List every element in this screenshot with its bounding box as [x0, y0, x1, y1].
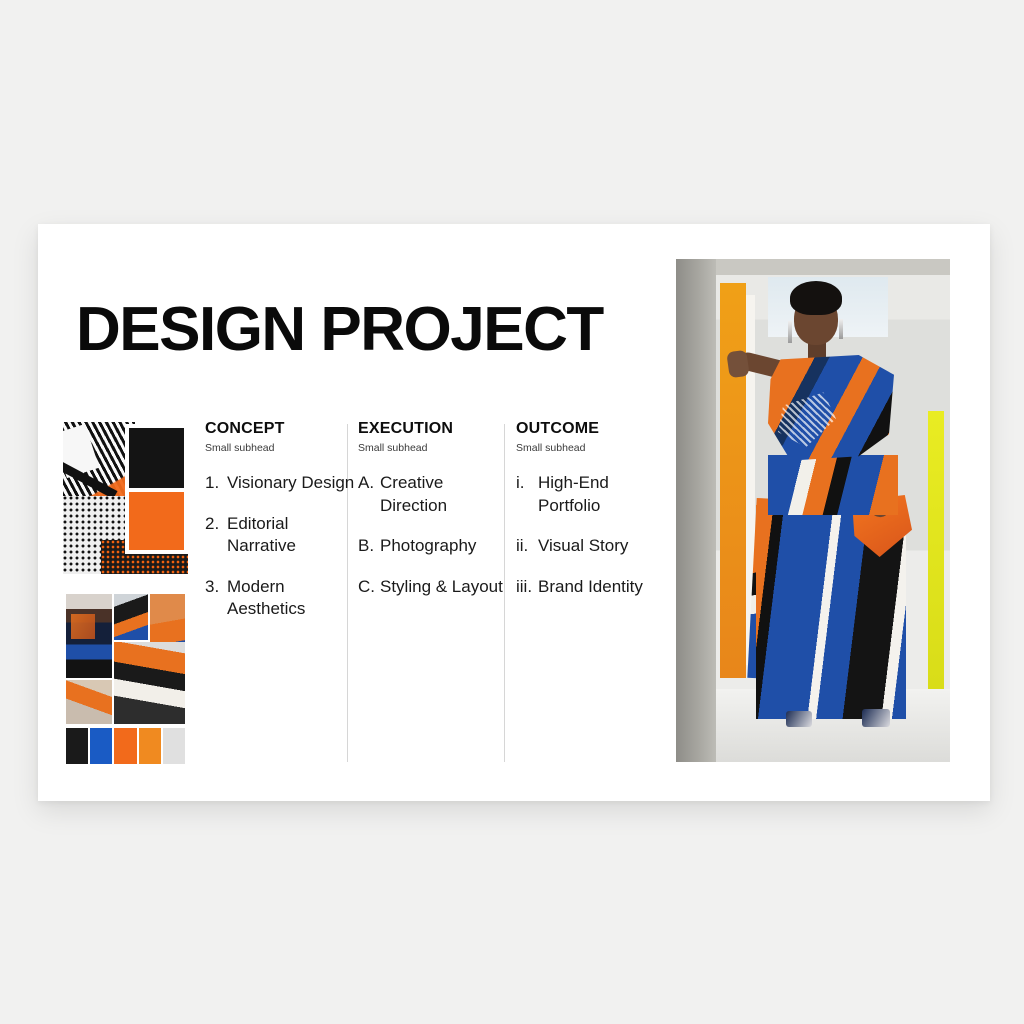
column-list-concept: 1. Visionary Design 2. Editorial Narrati…	[205, 472, 355, 621]
photo-grid	[66, 594, 185, 722]
column-list-outcome: i. High-End Portfolio ii. Visual Story i…	[516, 472, 668, 598]
black-stamp	[125, 424, 188, 492]
column-heading-concept: CONCEPT	[205, 420, 355, 438]
model-right-shoe	[862, 709, 890, 727]
column-outcome: OUTCOME Small subhead i. High-End Portfo…	[516, 420, 668, 616]
waist-wrap-detail	[768, 455, 898, 515]
list-item-label: Visual Story	[538, 536, 628, 555]
list-item-label: Creative Direction	[380, 473, 447, 515]
list-item: C. Styling & Layout	[358, 576, 508, 599]
list-item: A. Creative Direction	[358, 472, 508, 517]
column-subhead-outcome: Small subhead	[516, 442, 668, 454]
list-marker: ii.	[516, 535, 528, 558]
blue-swatch	[90, 728, 112, 764]
moodboard-photo-1	[66, 594, 112, 678]
list-marker: i.	[516, 472, 525, 495]
list-marker: 1.	[205, 472, 219, 495]
list-marker: C.	[358, 576, 375, 599]
model-hair	[790, 281, 842, 315]
concrete-pillar	[676, 259, 716, 762]
page-title: DESIGN PROJECT	[76, 299, 603, 361]
list-item-label: Visionary Design	[227, 473, 354, 492]
list-item: 3. Modern Aesthetics	[205, 576, 355, 621]
list-item-label: Styling & Layout	[380, 577, 503, 596]
model-left-shoe	[786, 711, 812, 727]
ceiling-slab	[716, 259, 950, 275]
moodboard-photo-2	[114, 594, 148, 640]
list-item: iii. Brand Identity	[516, 576, 668, 599]
abstract-pattern-moodboard	[63, 422, 188, 574]
list-item-label: High-End Portfolio	[538, 473, 609, 515]
column-subhead-concept: Small subhead	[205, 442, 355, 454]
list-item-label: Brand Identity	[538, 577, 643, 596]
column-list-execution: A. Creative Direction B. Photography C. …	[358, 472, 508, 598]
list-marker: 3.	[205, 576, 219, 599]
orange-red-swatch	[114, 728, 136, 764]
column-execution: EXECUTION Small subhead A. Creative Dire…	[358, 420, 508, 616]
yellow-wall-panel	[928, 411, 944, 701]
moodboard-photo-5	[114, 642, 185, 724]
list-item: B. Photography	[358, 535, 508, 558]
list-marker: B.	[358, 535, 374, 558]
color-swatch-row	[66, 728, 185, 764]
list-marker: A.	[358, 472, 374, 495]
column-subhead-execution: Small subhead	[358, 442, 508, 454]
list-item-label: Modern Aesthetics	[227, 577, 305, 619]
list-item: ii. Visual Story	[516, 535, 668, 558]
list-item: 2. Editorial Narrative	[205, 513, 355, 558]
moodboard-photo-6	[66, 680, 112, 724]
model-left-hand	[726, 350, 749, 379]
model-earring-right	[839, 319, 843, 339]
black-swatch	[66, 728, 88, 764]
list-item: 1. Visionary Design	[205, 472, 355, 495]
list-item-label: Photography	[380, 536, 476, 555]
orange-wall-panel	[720, 283, 746, 678]
presentation-slide-card: DESIGN PROJECT	[38, 224, 990, 801]
light-gray-swatch	[163, 728, 185, 764]
orange-stamp-fill	[129, 492, 184, 550]
list-marker: iii.	[516, 576, 532, 599]
column-heading-outcome: OUTCOME	[516, 420, 668, 438]
black-stamp-fill	[129, 428, 184, 488]
column-concept: CONCEPT Small subhead 1. Visionary Desig…	[205, 420, 355, 639]
list-marker: 2.	[205, 513, 219, 536]
fashion-photo-grid-moodboard	[63, 592, 188, 767]
fashion-model-photograph	[676, 259, 950, 762]
column-heading-execution: EXECUTION	[358, 420, 508, 438]
orange-stamp	[125, 488, 188, 554]
model-earring-left	[788, 321, 792, 343]
orange-swatch	[139, 728, 161, 764]
list-item: i. High-End Portfolio	[516, 472, 668, 517]
list-item-label: Editorial Narrative	[227, 514, 296, 556]
